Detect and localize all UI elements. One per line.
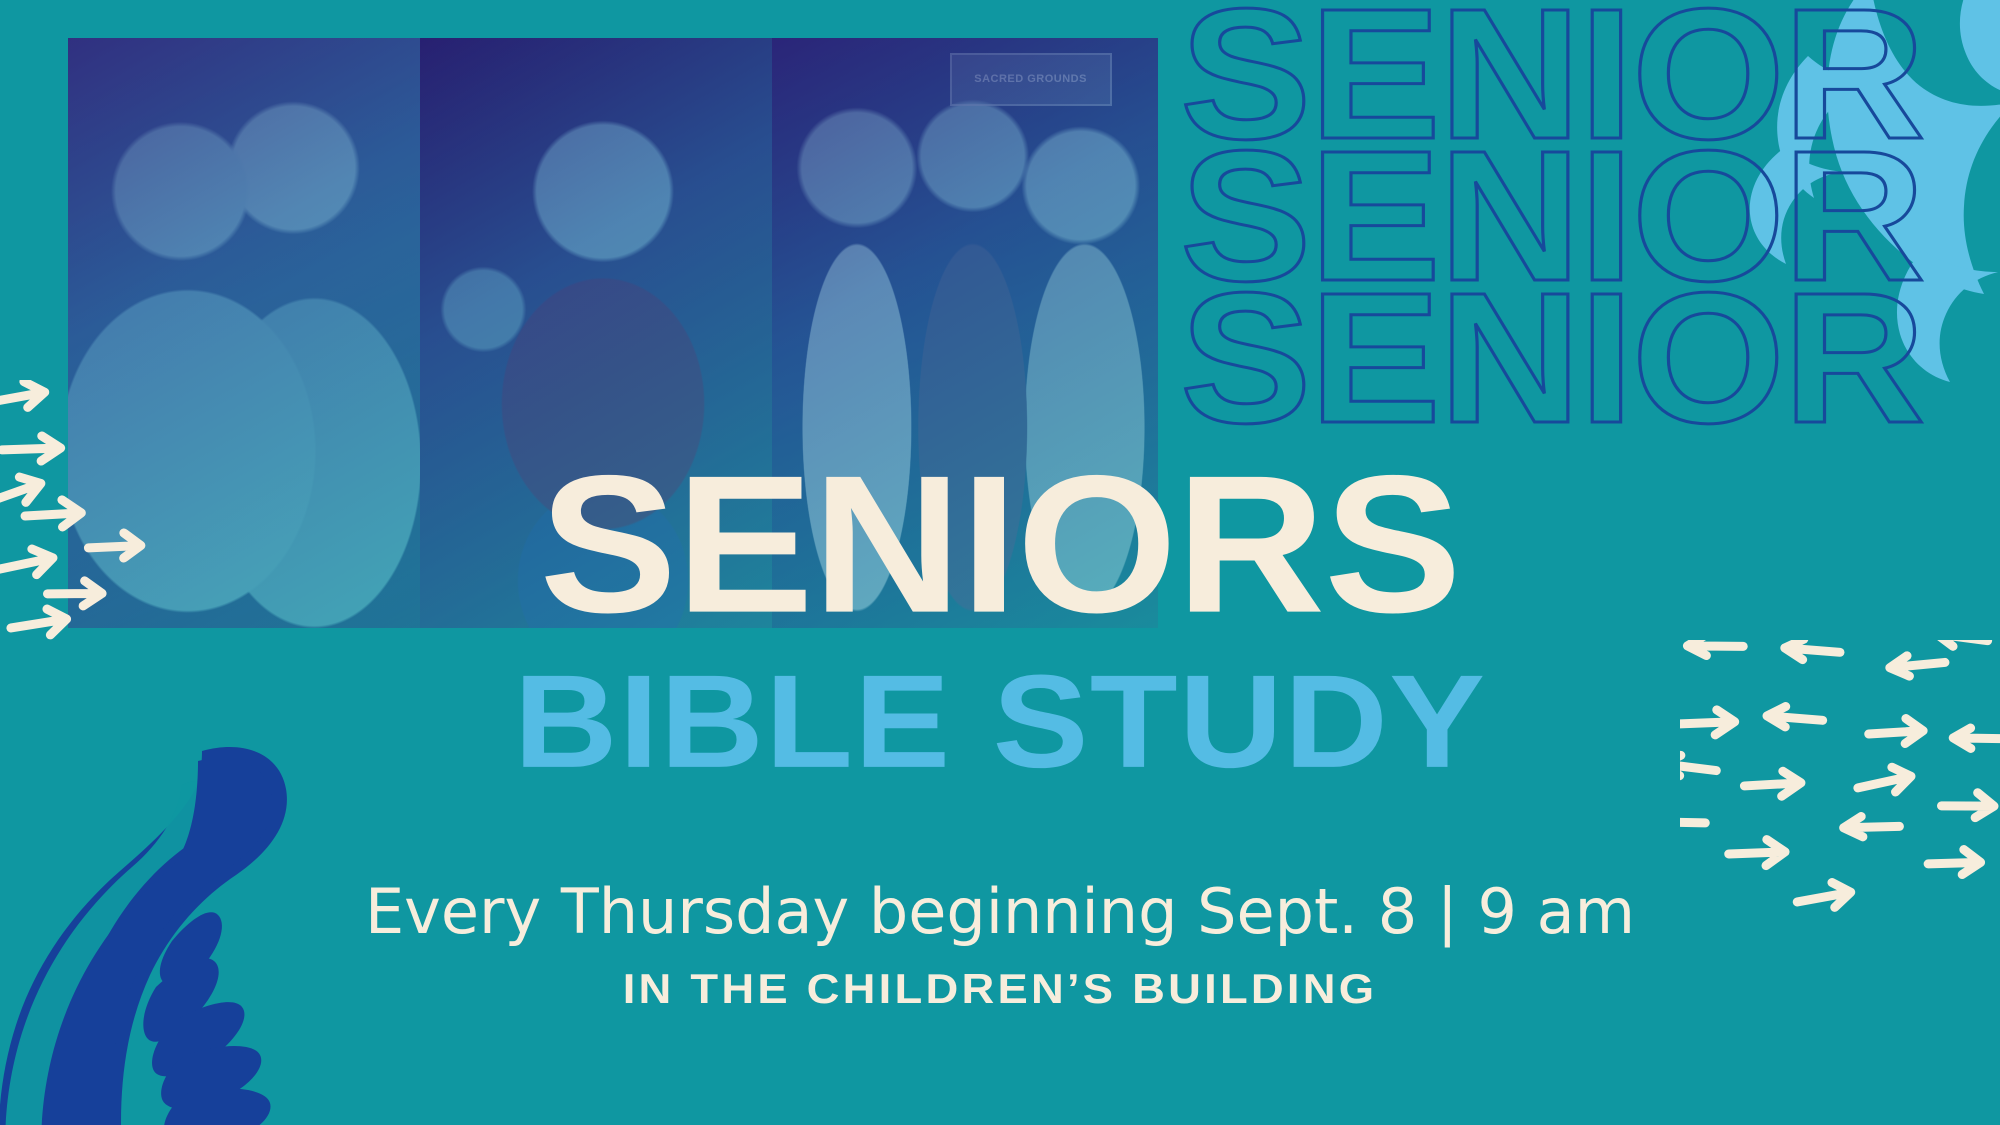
page-subtitle: BIBLE STUDY: [0, 662, 2000, 781]
headline-block: SENIORS: [0, 462, 2000, 612]
subheadline-block: BIBLE STUDY: [0, 662, 2000, 766]
background-wordmark-row-2: SENIOR: [1180, 124, 2000, 310]
background-wordmark-row-3: SENIOR: [1180, 266, 2000, 452]
poster-canvas: SENIOR SENIOR SENIOR SACRED GROUNDS: [0, 0, 2000, 1125]
background-wordmark-row-1: SENIOR: [1180, 0, 2000, 168]
location-text: IN THE CHILDREN’S BUILDING: [0, 965, 2000, 1013]
background-wordmark-stack: SENIOR SENIOR SENIOR: [1180, 0, 2000, 452]
page-title: SENIORS: [0, 462, 2000, 626]
event-details: Every Thursday beginning Sept. 8 | 9 am …: [0, 880, 2000, 1013]
schedule-text: Every Thursday beginning Sept. 8 | 9 am: [0, 880, 2000, 943]
light-blue-fern-leaf-icon: [1570, 0, 2000, 390]
